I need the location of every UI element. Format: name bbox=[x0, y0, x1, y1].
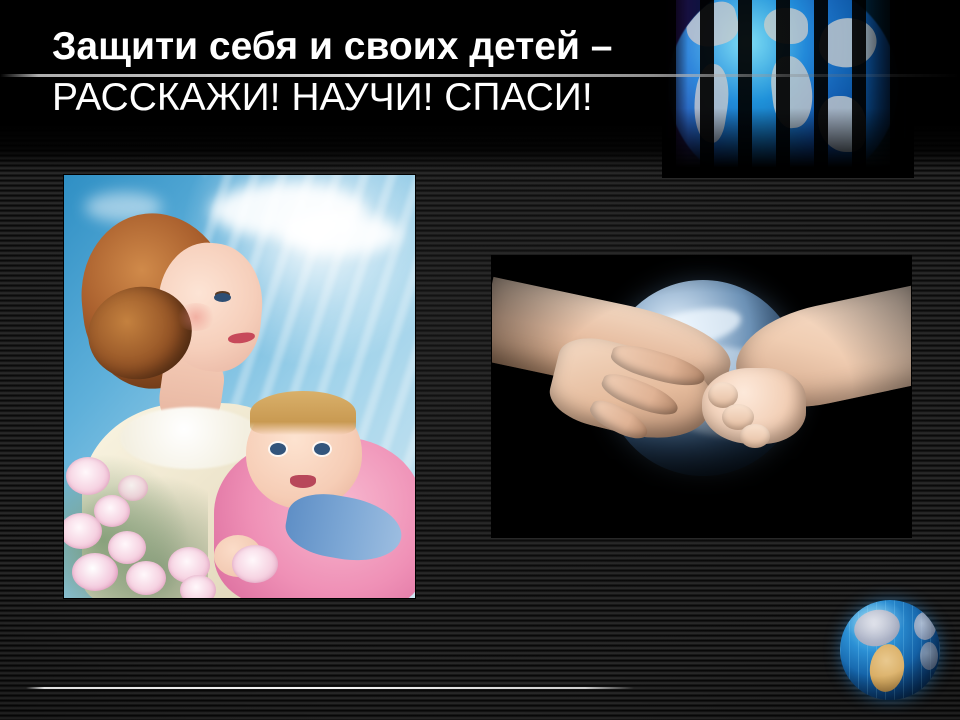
baby-eye bbox=[270, 443, 286, 455]
mother-and-child-painting bbox=[64, 175, 415, 598]
footer-divider-rule bbox=[26, 687, 634, 689]
globe-icon-sphere bbox=[840, 600, 940, 700]
painting-flower bbox=[66, 457, 110, 495]
baby-mouth bbox=[290, 475, 316, 488]
baby-eye bbox=[314, 443, 330, 455]
baby-hair bbox=[250, 391, 356, 435]
globe-icon-gloss bbox=[840, 600, 940, 700]
mother-eye bbox=[214, 293, 231, 302]
painting-cloud bbox=[282, 213, 401, 255]
page-title: Защити себя и своих детей – РАССКАЖИ! НА… bbox=[52, 24, 812, 122]
adult-and-child-hands-over-earth bbox=[492, 256, 911, 537]
globe-icon bbox=[840, 600, 940, 700]
painting-flower bbox=[72, 553, 118, 591]
painting-flower bbox=[232, 545, 278, 583]
title-line-1: Защити себя и своих детей – bbox=[52, 24, 812, 70]
title-line-2: РАССКАЖИ! НАУЧИ! СПАСИ! bbox=[52, 74, 812, 122]
presentation-slide: Защити себя и своих детей – РАССКАЖИ! НА… bbox=[0, 0, 960, 720]
painting-flower bbox=[180, 575, 216, 598]
painting-flower bbox=[126, 561, 166, 595]
mother-cheek bbox=[176, 303, 216, 331]
painting-flower bbox=[108, 531, 146, 564]
child-knuckle bbox=[740, 424, 770, 448]
